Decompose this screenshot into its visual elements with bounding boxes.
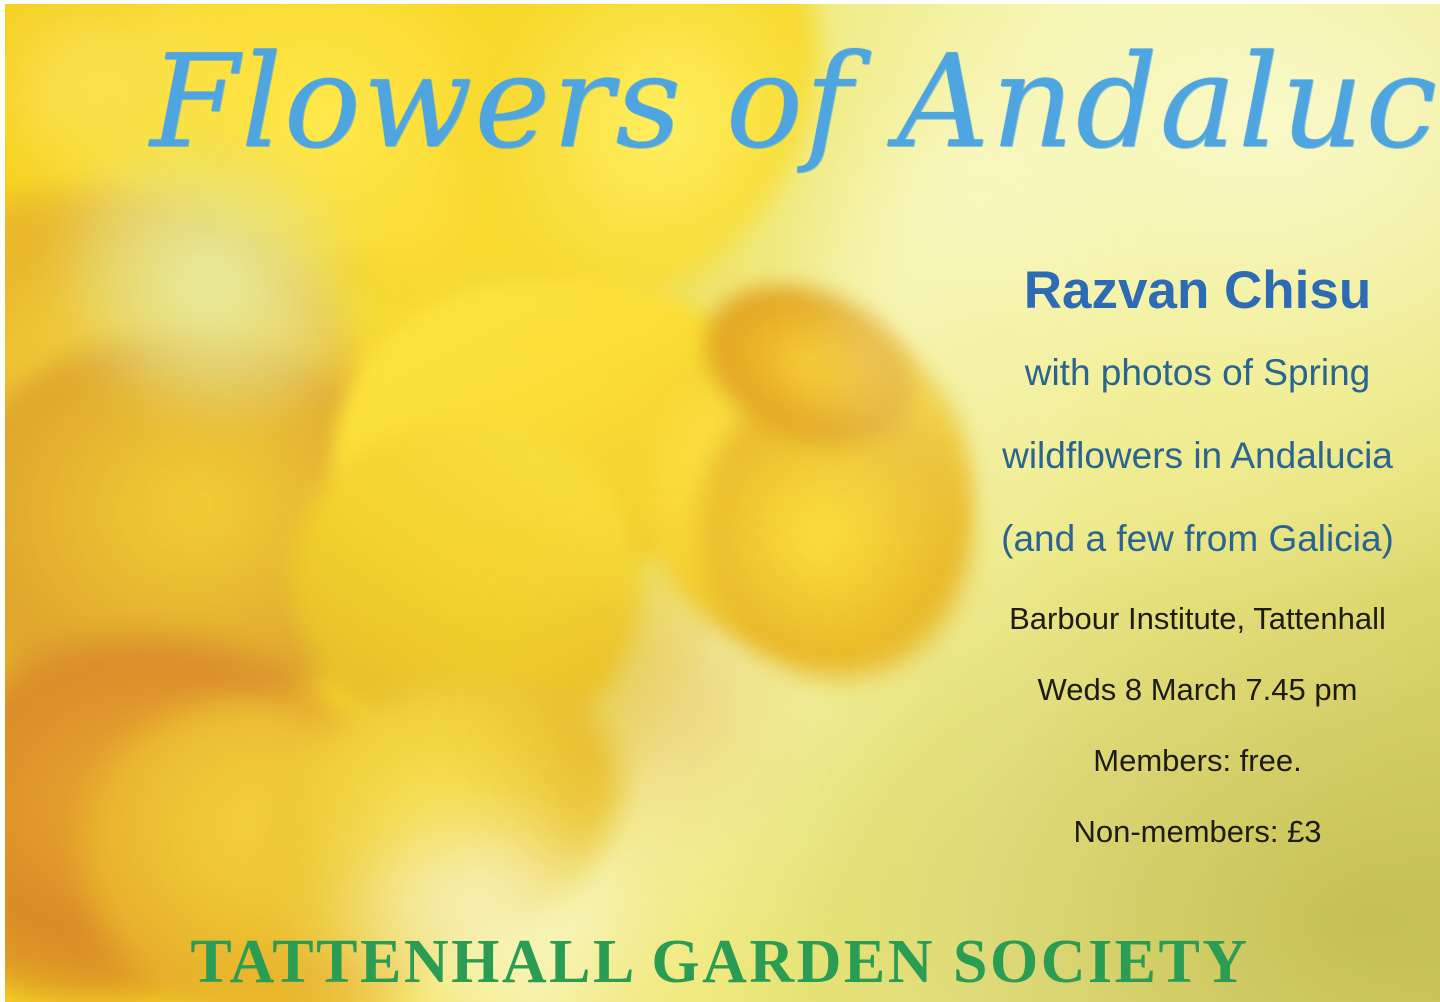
date-time-line: Weds 8 March 7.45 pm: [955, 674, 1440, 705]
organisation-name: TATTENHALL GARDEN SOCIETY: [0, 927, 1440, 998]
poster-title: Flowers of Andalucia: [150, 36, 1430, 170]
background-shadow: [520, 560, 780, 820]
blurb-line-2: wildflowers in Andalucia: [955, 437, 1440, 474]
event-poster: Flowers of Andalucia Razvan Chisu with p…: [0, 0, 1440, 1002]
event-info-column: Razvan Chisu with photos of Spring wildf…: [955, 262, 1440, 847]
venue-line: Barbour Institute, Tattenhall: [955, 603, 1440, 634]
page-edge-top: [0, 0, 1440, 4]
blurb-line-1: with photos of Spring: [955, 354, 1440, 391]
members-price-line: Members: free.: [955, 745, 1440, 776]
non-members-price-line: Non-members: £3: [955, 816, 1440, 847]
blurb-line-3: (and a few from Galicia): [955, 520, 1440, 557]
speaker-name: Razvan Chisu: [955, 262, 1440, 320]
page-edge-left: [0, 0, 5, 1002]
